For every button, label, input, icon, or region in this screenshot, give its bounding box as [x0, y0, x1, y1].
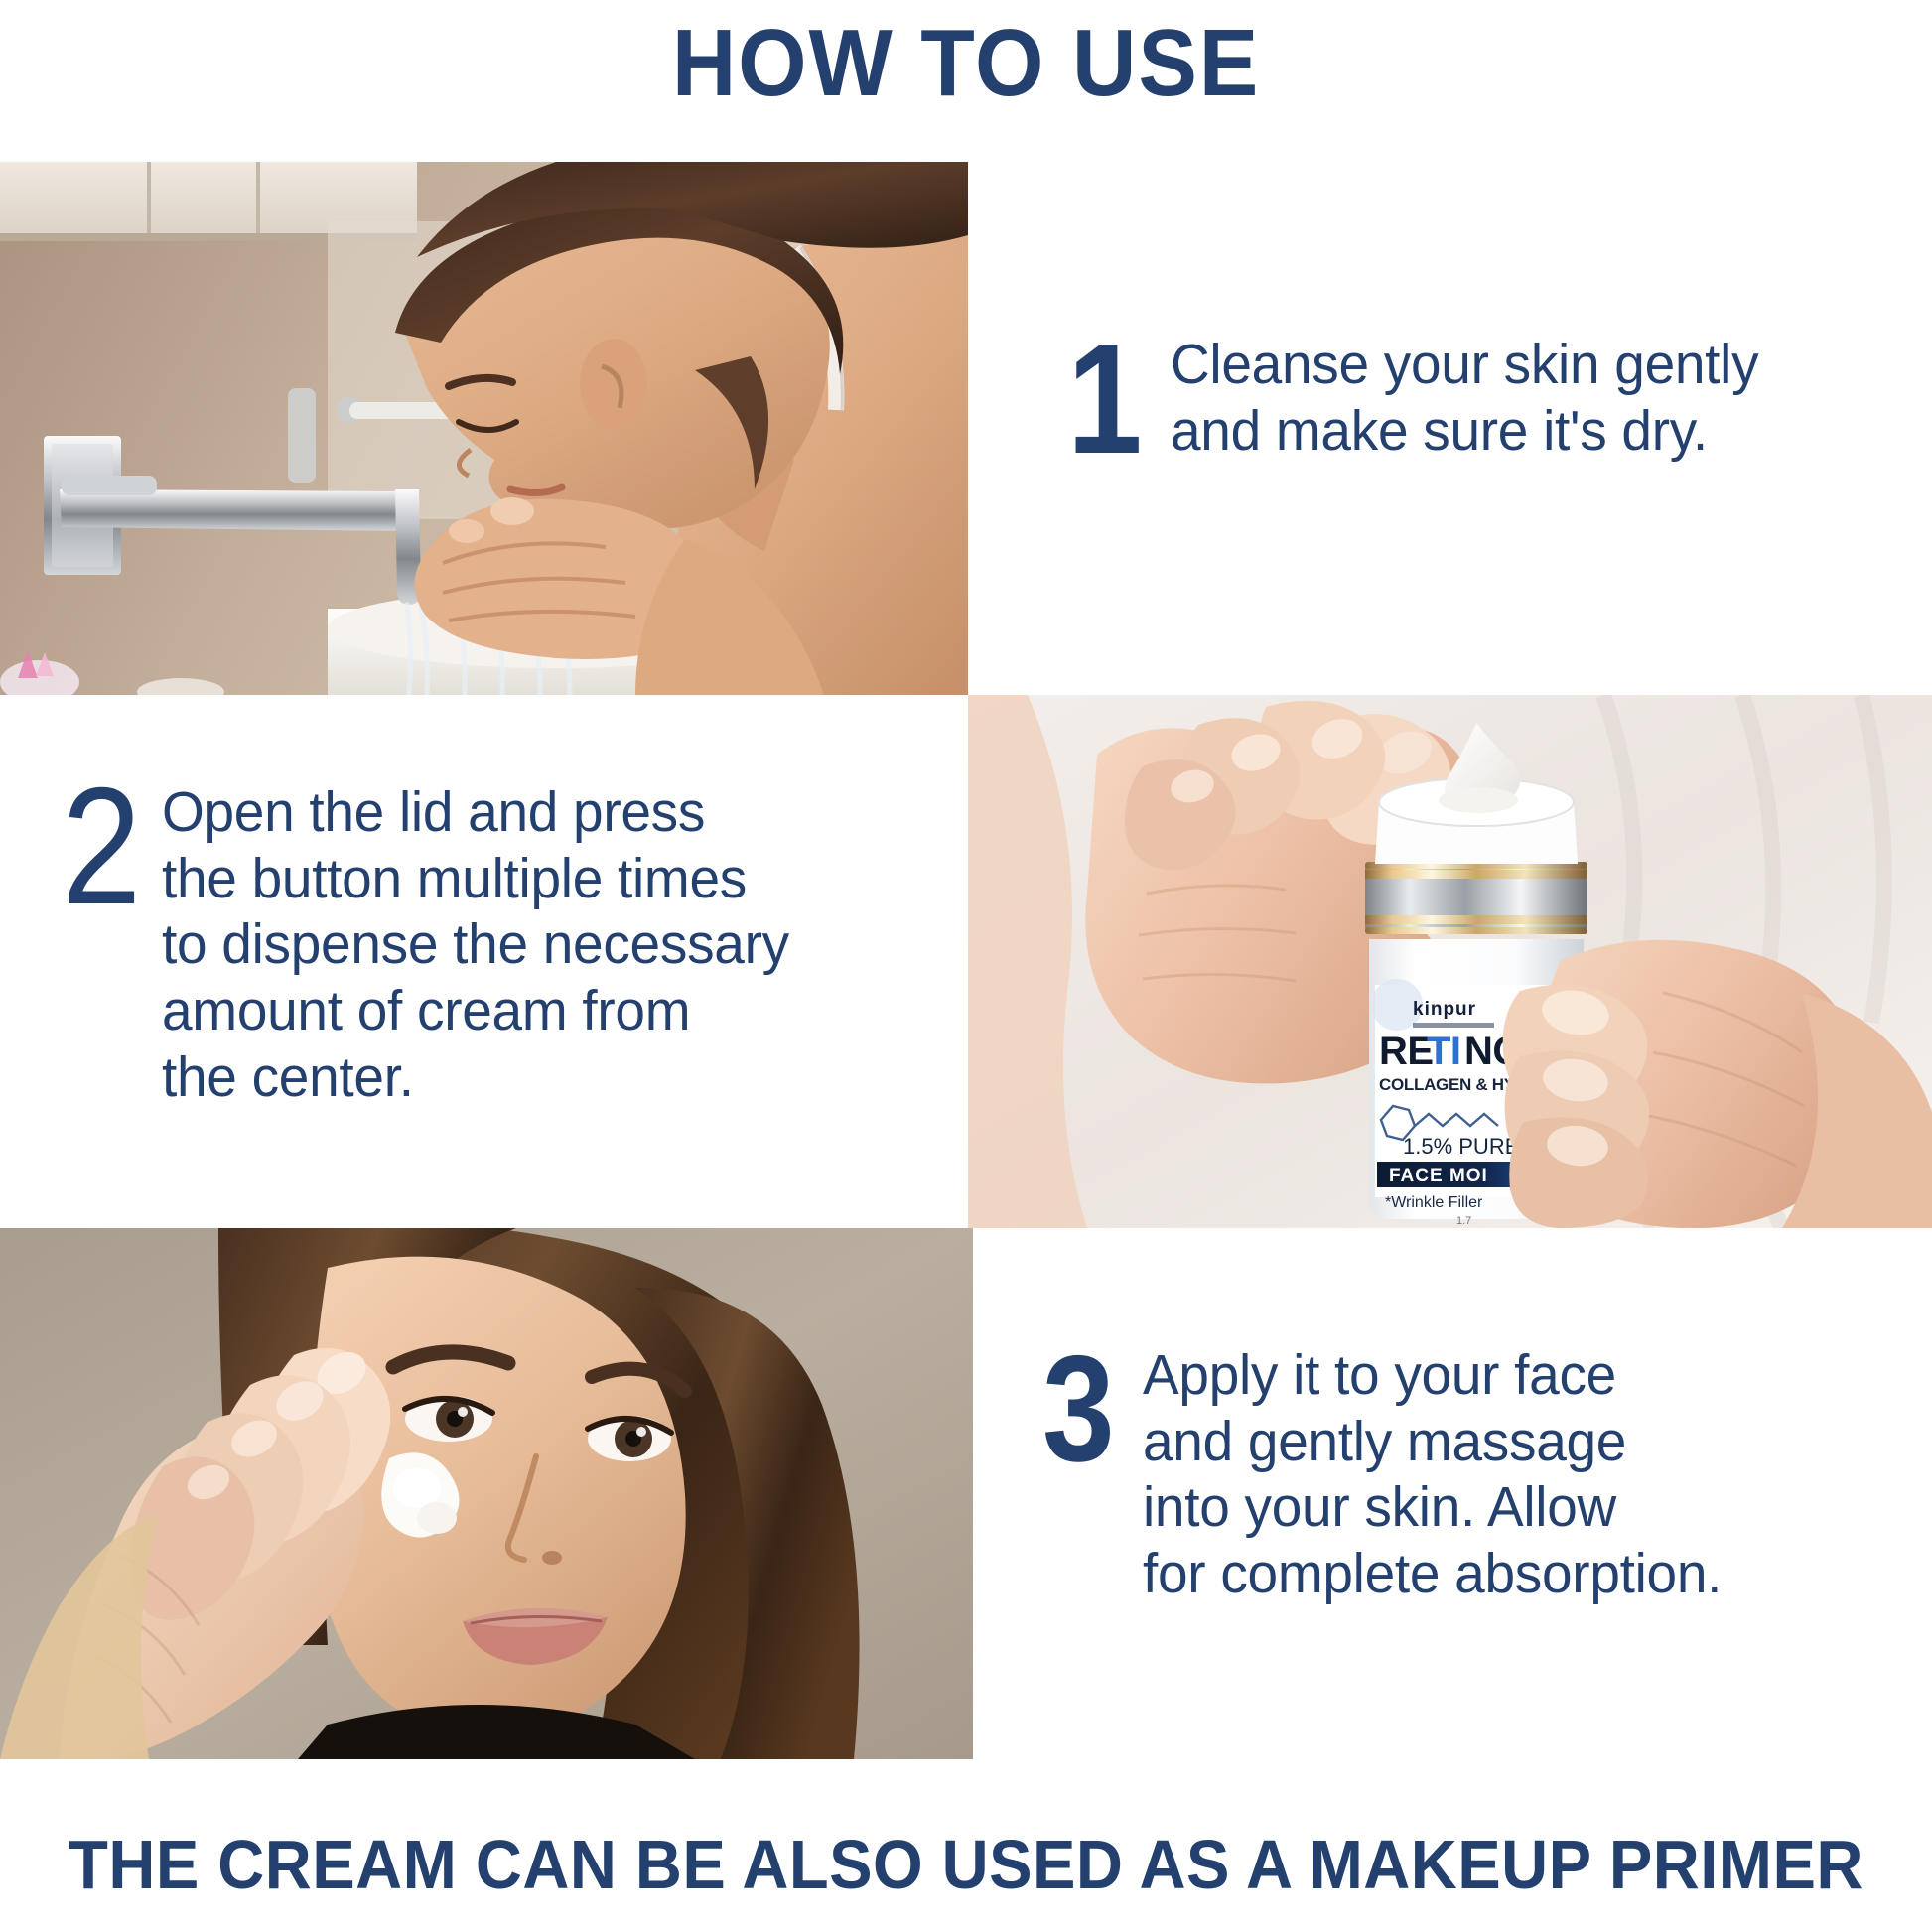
step-3-text: Apply it to your face and gently massage… [1143, 1340, 1722, 1607]
photo-step-3-apply [0, 1228, 973, 1759]
step-3: 3 Apply it to your face and gently massa… [1042, 1340, 1742, 1607]
svg-text:kinpur: kinpur [1413, 999, 1476, 1020]
how-to-use-infographic: HOW TO USE [0, 0, 1932, 1932]
svg-text:TI: TI [1427, 1030, 1461, 1073]
page-title: HOW TO USE [68, 14, 1864, 114]
applying-cream-illustration [0, 1228, 973, 1759]
svg-text:1.7: 1.7 [1456, 1215, 1471, 1227]
step-2-number: 2 [62, 769, 141, 923]
step-2: 2 Open the lid and press the button mult… [62, 769, 812, 1110]
washing-face-illustration [0, 162, 968, 695]
photo-step-1-cleanse [0, 162, 968, 695]
hands-holding-jar-illustration: kinpur RE TI NOL COLLAGEN & HYALURONI 1.… [968, 695, 1932, 1228]
svg-text:*Wrinkle Filler: *Wrinkle Filler [1385, 1194, 1483, 1211]
step-2-text: Open the lid and press the button multip… [162, 769, 789, 1110]
footer-tagline: THE CREAM CAN BE ALSO USED AS A MAKEUP P… [68, 1825, 1864, 1904]
step-1-text: Cleanse your skin gently and make sure i… [1171, 328, 1758, 464]
step-3-number: 3 [1042, 1340, 1115, 1479]
step-1-number: 1 [1067, 328, 1143, 472]
svg-text:FACE MOI: FACE MOI [1389, 1166, 1488, 1186]
step-1: 1 Cleanse your skin gently and make sure… [1067, 328, 1780, 472]
svg-text:RE: RE [1379, 1030, 1434, 1073]
photo-step-2-dispense: kinpur RE TI NOL COLLAGEN & HYALURONI 1.… [968, 695, 1932, 1228]
svg-text:1.5% PURE: 1.5% PURE [1403, 1134, 1519, 1159]
